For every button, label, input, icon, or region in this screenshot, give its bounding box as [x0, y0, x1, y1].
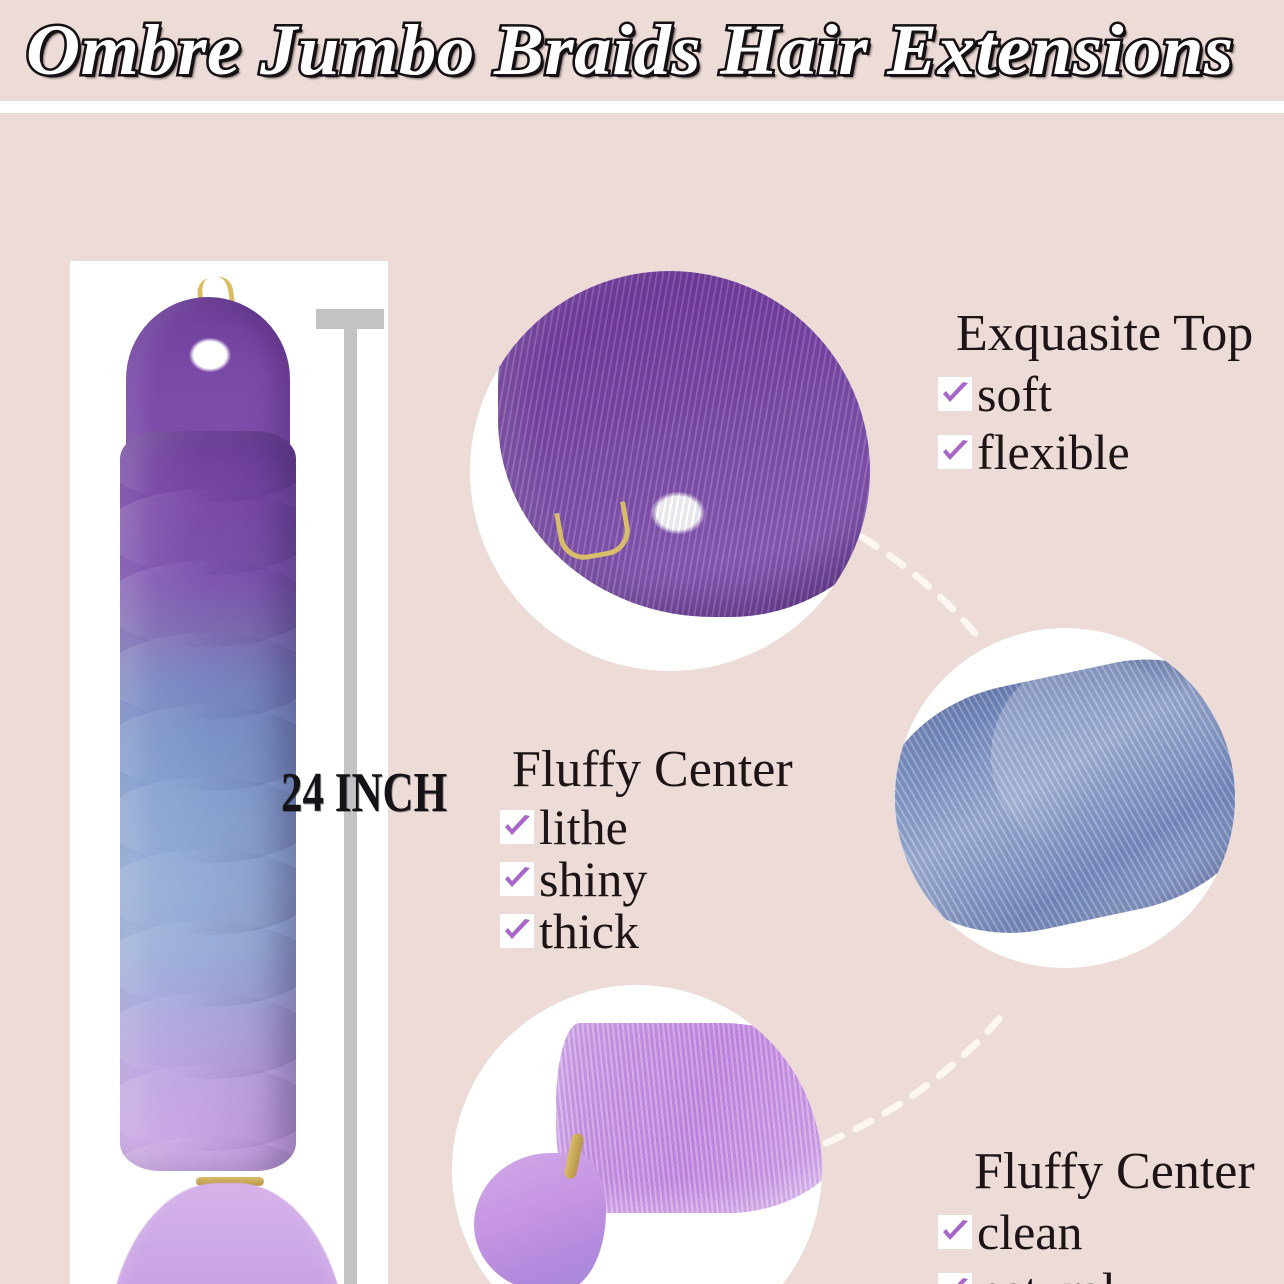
check-icon	[500, 862, 534, 896]
feature-item: shiny	[500, 853, 793, 905]
page-title: Ombre Jumbo Braids Hair Extensions	[26, 8, 1284, 92]
feature-block-exquisite: Exquasite Top soft f	[938, 303, 1253, 481]
feature-list: soft flexible	[938, 365, 1253, 481]
measurement-label: 24 INCH	[281, 761, 447, 824]
check-icon	[500, 914, 534, 948]
feature-item: thick	[500, 905, 793, 957]
inset-photo-top	[470, 271, 870, 671]
lavender-hair-bulb	[474, 1153, 606, 1284]
check-icon	[938, 1215, 972, 1249]
feature-block-fluffy-bottom: Fluffy Center clean	[938, 1141, 1255, 1284]
body-panel: 24 INCH Exquasite Top	[0, 113, 1284, 1284]
feature-item-label: lithe	[539, 798, 628, 856]
feature-item-label: thick	[539, 902, 639, 960]
feature-item-label: clean	[977, 1203, 1082, 1261]
feature-title: Fluffy Center	[938, 1141, 1255, 1203]
braid-tail-fan	[106, 1183, 348, 1284]
length-ruler-top-cap	[316, 309, 384, 329]
product-infographic: Ombre Jumbo Braids Hair Extensions	[0, 0, 1284, 1284]
check-icon	[500, 810, 534, 844]
check-icon	[938, 377, 972, 411]
purple-hair-strand-texture	[498, 271, 870, 617]
feature-item: clean	[938, 1203, 1255, 1261]
feature-list: clean natural	[938, 1203, 1255, 1284]
connector-top-to-right-icon	[862, 537, 985, 645]
feature-item: soft	[938, 365, 1253, 423]
feature-item: flexible	[938, 423, 1253, 481]
header-divider	[0, 101, 1284, 113]
feature-block-fluffy-center: Fluffy Center lithe	[500, 739, 793, 957]
feature-item: lithe	[500, 801, 793, 853]
connector-bottom-to-right-icon	[826, 1018, 1000, 1143]
feature-title: Exquasite Top	[938, 303, 1253, 365]
feature-item-label: flexible	[977, 423, 1130, 481]
inset-photo-bottom	[452, 985, 822, 1284]
braid-plait-texture	[120, 431, 296, 1171]
check-icon	[938, 1273, 972, 1284]
feature-title: Fluffy Center	[500, 739, 793, 801]
feature-item-label: soft	[977, 365, 1052, 423]
feature-item-label: shiny	[539, 850, 647, 908]
feature-item: natural	[938, 1261, 1255, 1284]
inset-photo-right	[895, 628, 1235, 968]
feature-item-label: natural	[977, 1261, 1116, 1284]
check-icon	[938, 435, 972, 469]
feature-list: lithe shiny thick	[500, 801, 793, 957]
header-band: Ombre Jumbo Braids Hair Extensions	[0, 0, 1284, 101]
